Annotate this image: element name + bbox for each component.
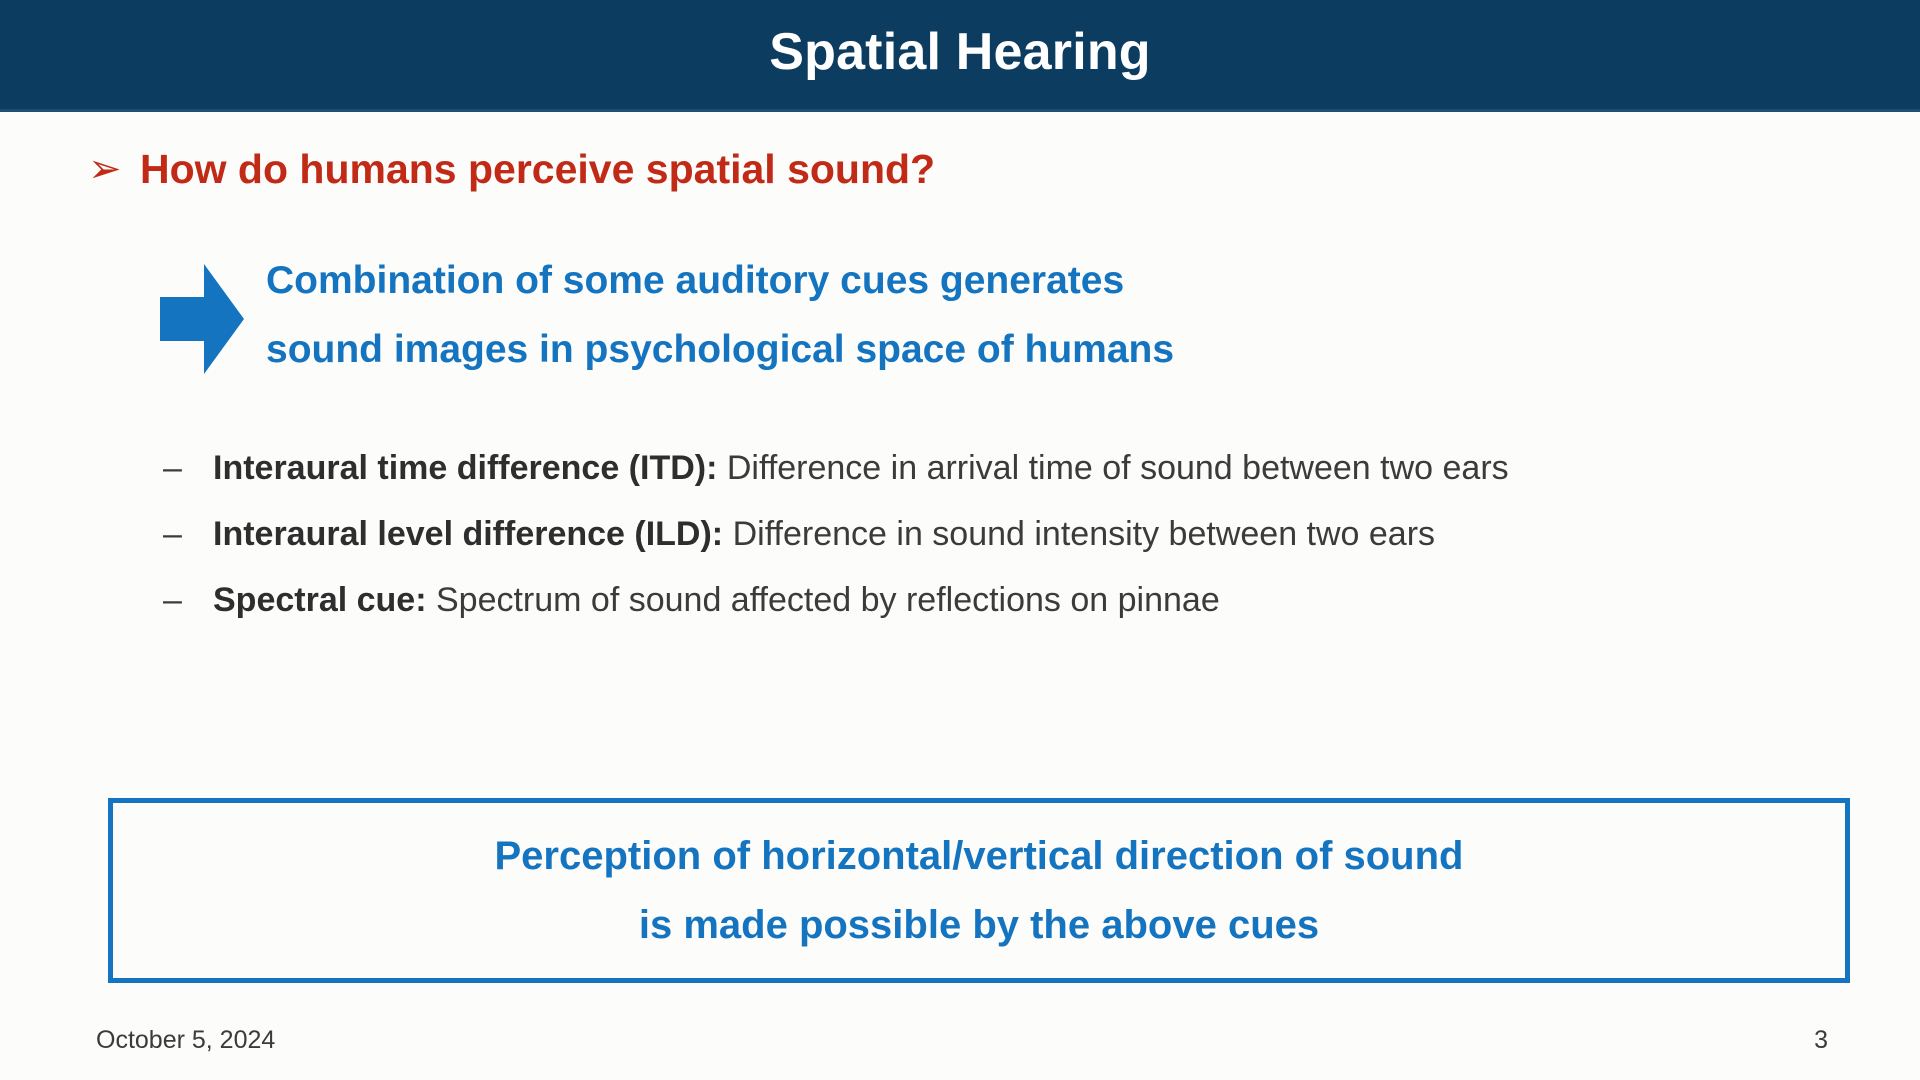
arrow-callout-line-2: sound images in psychological space of h… (266, 315, 1174, 384)
block-right-arrow-icon (160, 264, 244, 379)
conclusion-box: Perception of horizontal/vertical direct… (108, 798, 1850, 983)
dash-bullet-icon: – (163, 570, 213, 630)
list-item: – Interaural time difference (ITD): Diff… (163, 438, 1903, 498)
cue-text: Spectral cue: Spectrum of sound affected… (213, 570, 1220, 630)
footer-page-number: 3 (1814, 1026, 1828, 1055)
cue-label: Interaural time difference (ITD): (213, 449, 717, 487)
conclusion-line-2: is made possible by the above cues (639, 891, 1319, 960)
arrow-callout-text: Combination of some auditory cues genera… (266, 246, 1174, 384)
list-item: – Interaural level difference (ILD): Dif… (163, 504, 1903, 564)
slide-canvas: Spatial Hearing ➢ How do humans perceive… (0, 0, 1920, 1080)
level1-bullet-text: How do humans perceive spatial sound? (140, 142, 935, 196)
slide-title-bar: Spatial Hearing (0, 0, 1920, 109)
title-divider (0, 109, 1920, 112)
cue-text: Interaural level difference (ILD): Diffe… (213, 504, 1435, 564)
level1-bullet-row: ➢ How do humans perceive spatial sound? (88, 142, 935, 196)
arrow-callout-line-1: Combination of some auditory cues genera… (266, 246, 1174, 315)
conclusion-line-1: Perception of horizontal/vertical direct… (495, 822, 1464, 891)
cue-list: – Interaural time difference (ITD): Diff… (163, 438, 1903, 636)
cue-description: Difference in arrival time of sound betw… (727, 449, 1509, 487)
cue-text: Interaural time difference (ITD): Differ… (213, 438, 1509, 498)
cue-description: Difference in sound intensity between tw… (733, 515, 1435, 553)
dash-bullet-icon: – (163, 504, 213, 564)
cue-description: Spectrum of sound affected by reflection… (436, 581, 1220, 619)
dash-bullet-icon: – (163, 438, 213, 498)
chevron-arrowhead-bullet-icon: ➢ (88, 142, 140, 196)
footer-date: October 5, 2024 (96, 1026, 275, 1055)
list-item: – Spectral cue: Spectrum of sound affect… (163, 570, 1903, 630)
page-title: Spatial Hearing (769, 26, 1151, 84)
cue-label: Spectral cue: (213, 581, 427, 619)
cue-label: Interaural level difference (ILD): (213, 515, 723, 553)
arrow-callout: Combination of some auditory cues genera… (160, 246, 1174, 384)
